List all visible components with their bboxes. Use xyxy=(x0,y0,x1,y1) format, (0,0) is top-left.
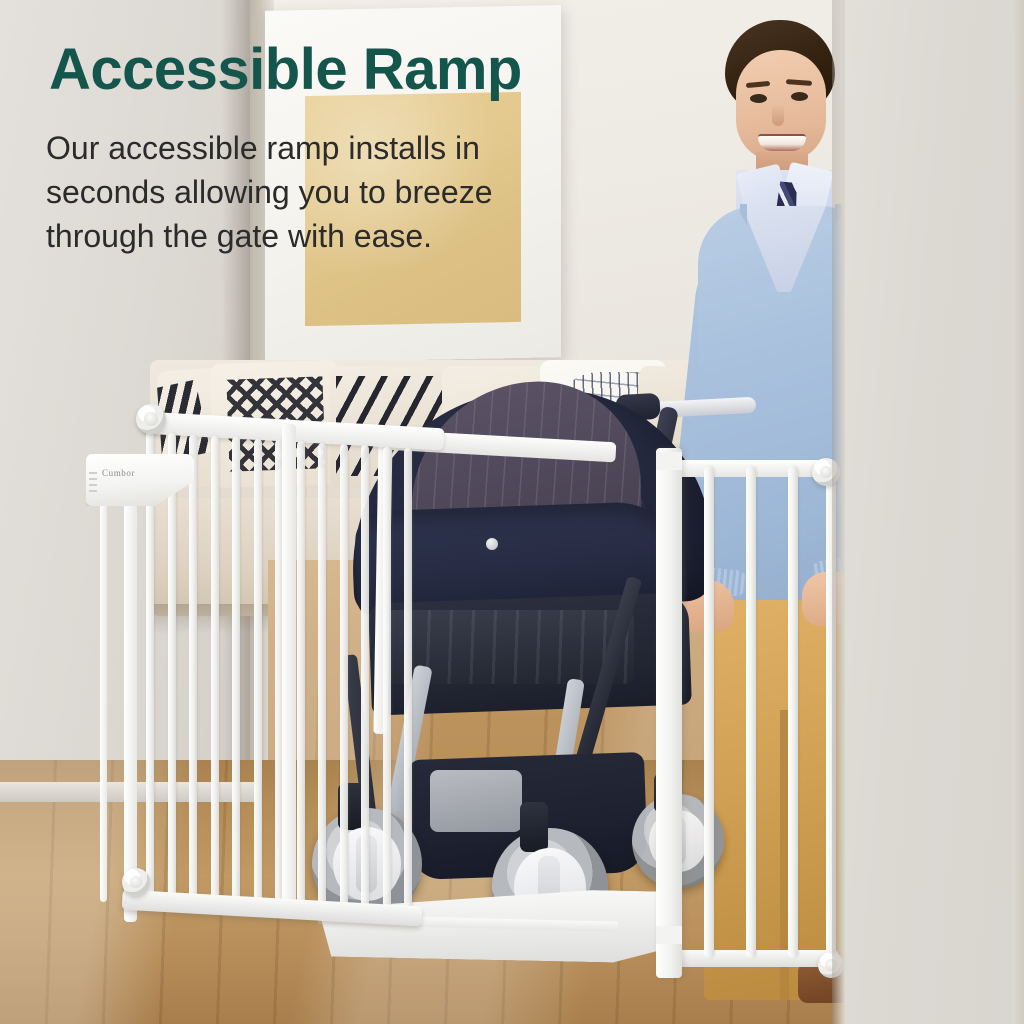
gate-bar xyxy=(168,433,176,910)
description-line: Our accessible ramp installs in xyxy=(46,126,606,170)
safety-gate: Cumbor xyxy=(86,398,706,978)
extension-left-post xyxy=(656,448,682,978)
gate-latch-stem xyxy=(100,502,107,902)
gate-bar xyxy=(383,447,391,914)
gate-extension-panel xyxy=(660,452,850,1012)
mouth xyxy=(758,134,806,151)
eye xyxy=(750,94,767,103)
gate-bar xyxy=(404,448,412,914)
gate-bar xyxy=(254,439,262,912)
brand-logo: Cumbor xyxy=(102,468,135,478)
extension-post-notch xyxy=(656,452,682,470)
gate-bar xyxy=(318,443,326,913)
latch-vent-slots xyxy=(89,472,97,494)
extension-bar xyxy=(704,466,714,958)
gate-bar-group xyxy=(146,432,408,922)
gate-bar xyxy=(189,435,197,911)
extension-bar xyxy=(788,466,798,958)
gate-bar xyxy=(232,437,240,911)
gate-bar xyxy=(340,444,348,913)
product-marketing-image: Cumbor Accessible Ramp Our accessible ra… xyxy=(0,0,1024,1024)
gate-bar xyxy=(297,441,305,912)
gate-right-post xyxy=(282,424,296,916)
description-text: Our accessible ramp installs in seconds … xyxy=(46,126,606,258)
pressure-mount-knob xyxy=(122,868,150,896)
gate-bar xyxy=(211,436,219,911)
description-line: through the gate with ease. xyxy=(46,214,606,258)
page-title: Accessible Ramp xyxy=(49,36,522,103)
gate-bar xyxy=(361,445,369,913)
nose xyxy=(772,104,784,126)
pressure-mount-knob xyxy=(136,404,166,434)
extension-post-notch xyxy=(656,926,682,944)
eye xyxy=(791,92,808,101)
right-wall-edge xyxy=(1012,0,1024,1024)
description-line: seconds allowing you to breeze xyxy=(46,170,606,214)
right-wall xyxy=(845,0,1024,1024)
extension-bar xyxy=(746,466,756,958)
gate-left-post xyxy=(124,492,137,922)
